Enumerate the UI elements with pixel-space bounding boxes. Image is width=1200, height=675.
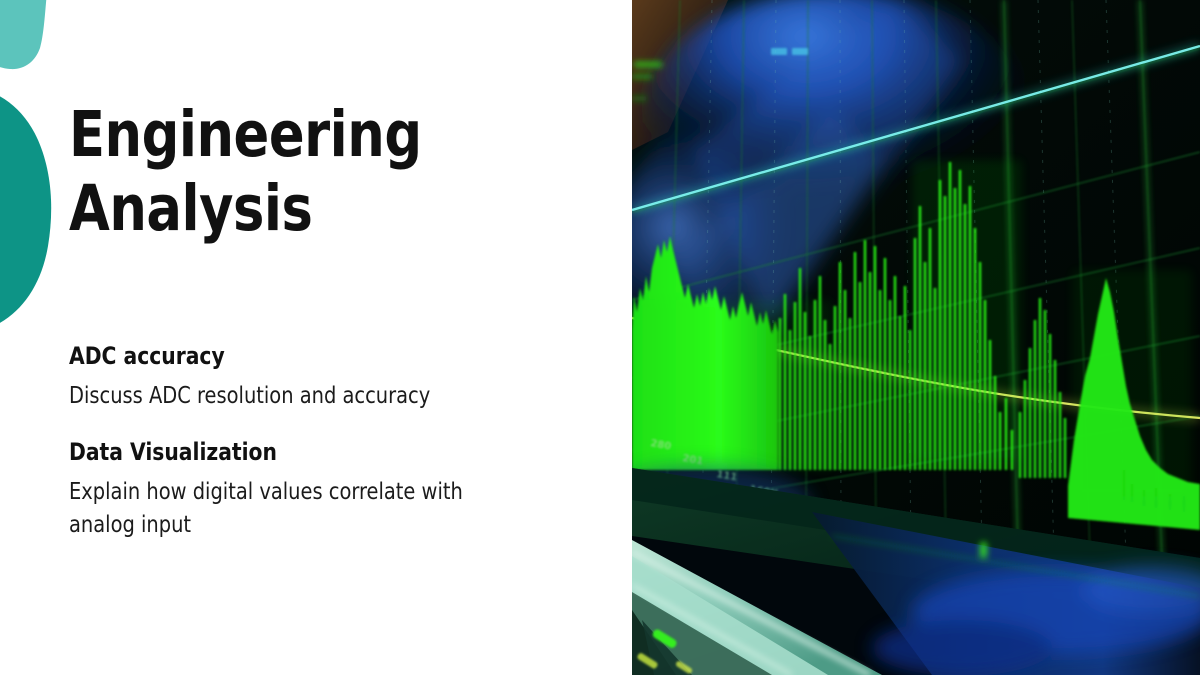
bullet-body-data-visualization: Explain how digital values correlate wit… <box>69 476 511 542</box>
bullet-list: ADC accuracy Discuss ADC resolution and … <box>69 340 569 542</box>
page-title: Engineering Analysis <box>69 98 589 246</box>
oscilloscope-photo: 280 201 111 160K DNL 3 4800 81 <box>632 0 1200 675</box>
bullet-item-data-visualization: Data Visualization Explain how digital v… <box>69 436 569 542</box>
scope-screen: 280 201 111 160K DNL 3 4800 81 <box>632 0 1200 560</box>
bullet-body-adc-accuracy: Discuss ADC resolution and accuracy <box>69 380 511 413</box>
page-title-line-2: Analysis <box>69 172 553 246</box>
left-content-panel: Engineering Analysis ADC accuracy Discus… <box>0 0 632 675</box>
page-title-line-1: Engineering <box>69 98 553 172</box>
bullet-heading-adc-accuracy: ADC accuracy <box>69 340 539 372</box>
bullet-item-adc-accuracy: ADC accuracy Discuss ADC resolution and … <box>69 340 569 413</box>
slide-root: Engineering Analysis ADC accuracy Discus… <box>0 0 1200 675</box>
bullet-heading-data-visualization: Data Visualization <box>69 436 539 468</box>
